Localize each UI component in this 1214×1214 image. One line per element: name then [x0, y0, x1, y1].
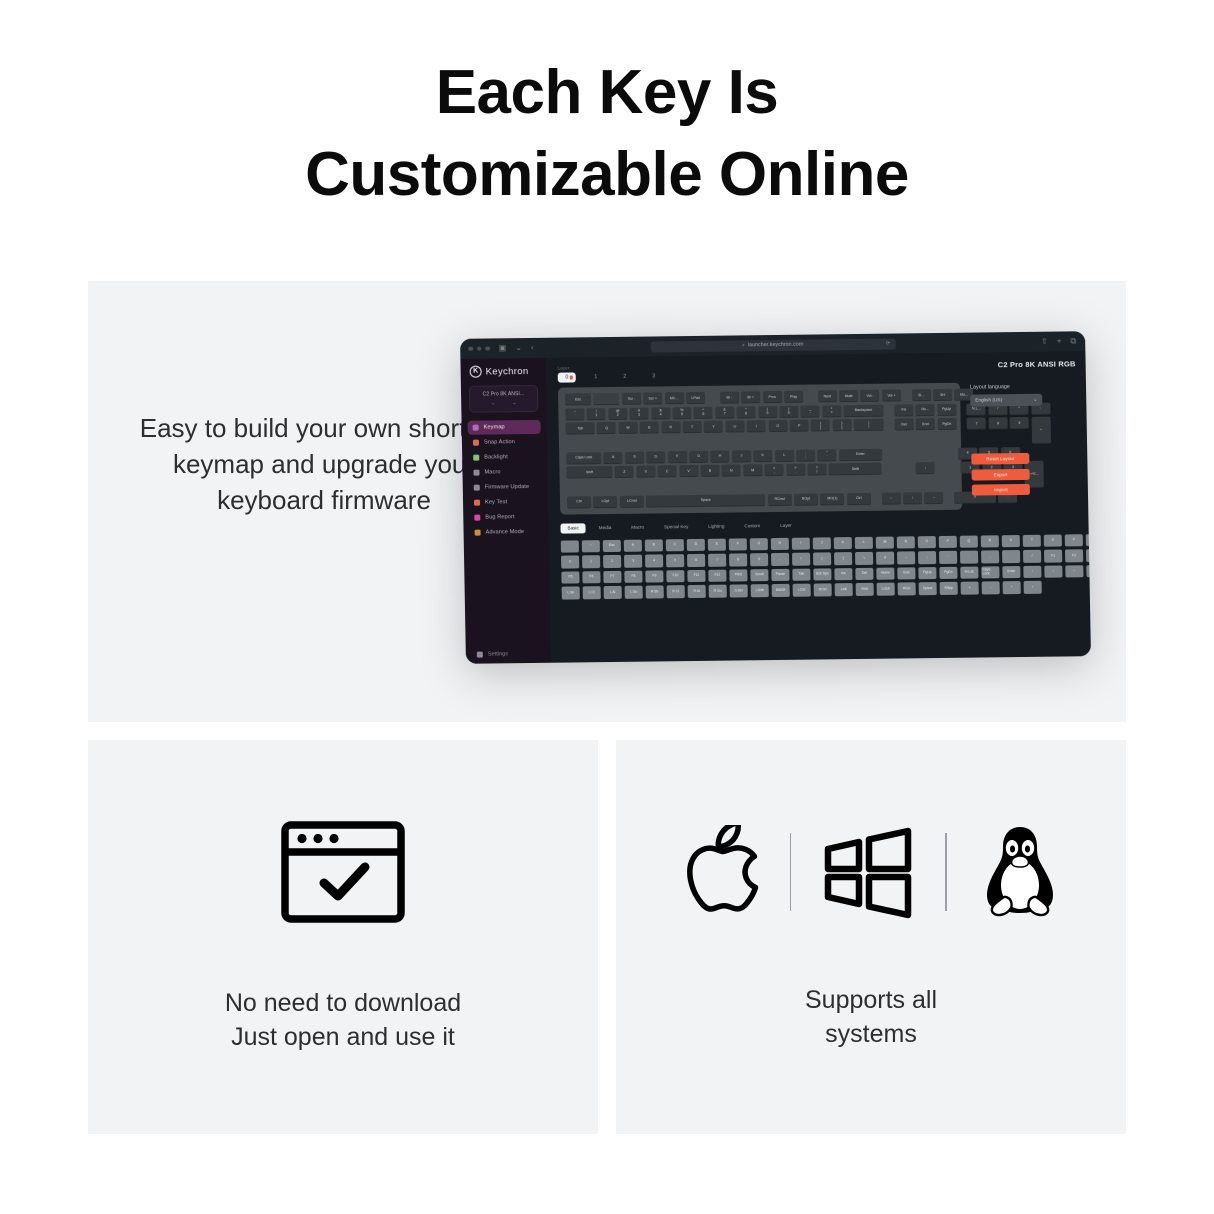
keycap[interactable]: Ins: [894, 404, 913, 416]
keycode-option[interactable]: O: [918, 536, 936, 549]
keyboard-spacer: [893, 447, 956, 460]
sidebar-item-label: Backlight: [484, 454, 508, 460]
sidebar-item-macro[interactable]: Macro: [468, 465, 541, 480]
keycode-option[interactable]: L Gu: [625, 586, 643, 599]
keycap[interactable]: :;: [796, 449, 815, 461]
keycap[interactable]: E: [640, 422, 659, 434]
keyboard-spacer: [946, 491, 952, 503]
keycode-option[interactable]: LCtrl: [793, 584, 811, 597]
keycap[interactable]: ?/: [807, 464, 826, 476]
settings-label: Settings: [488, 651, 508, 657]
keycap[interactable]: Br -: [720, 391, 739, 403]
no-download-caption: No need to download Just open and use it: [225, 986, 461, 1055]
keycode-option[interactable]: D: [687, 539, 705, 552]
keyboard-spacer: [884, 448, 890, 460]
keycap[interactable]: {[: [811, 419, 830, 431]
keycap-legend-bottom: 3: [638, 413, 640, 417]
keycap-legend-bottom: [: [820, 425, 821, 429]
keycode-option[interactable]: L Sh: [562, 587, 580, 600]
keycode-option[interactable]: R Al: [688, 585, 706, 598]
keycode-option[interactable]: R Ct: [667, 585, 685, 598]
keycode-option[interactable]: S: [1002, 535, 1020, 548]
keycode-option[interactable]: Home: [876, 567, 894, 580]
keycode-option[interactable]: G: [750, 538, 768, 551]
keycode-option[interactable]: R Sh: [646, 586, 664, 599]
keycode-option[interactable]: Tab: [792, 568, 810, 581]
keychron-logo-icon: K: [470, 366, 482, 378]
keycap[interactable]: W: [618, 422, 637, 434]
sidebar-item-label: Bug Report: [485, 514, 514, 520]
keycode-option[interactable]: =: [792, 553, 810, 566]
keycap[interactable]: B: [700, 465, 719, 477]
keycap[interactable]: Backspace: [843, 404, 883, 417]
keycap[interactable]: Scr -: [622, 393, 641, 405]
keycode-option[interactable]: P: [939, 535, 957, 548]
keyboard-spacer: [937, 462, 958, 489]
main-header: Layer 0123 C2 Pro 8K ANSI RGB: [558, 359, 1076, 382]
keycode-option[interactable]: F6: [582, 571, 600, 584]
os-icon-row: [680, 823, 1063, 921]
keycap-legend-bottom: 0: [788, 411, 790, 415]
keycode-option[interactable]: →: [1086, 565, 1091, 578]
keycap[interactable]: R: [661, 421, 680, 433]
keycap[interactable]: K: [753, 450, 772, 462]
keycap[interactable]: +=: [822, 405, 841, 417]
keycode-option[interactable]: LShft: [751, 584, 769, 597]
keycode-option[interactable]: -: [771, 553, 789, 566]
keycap[interactable]: G: [689, 450, 708, 462]
keycode-option[interactable]: ↓: [1044, 565, 1062, 578]
keycap[interactable]: >.: [786, 464, 805, 476]
keycode-option[interactable]: H: [771, 538, 789, 551]
keycap-legend-bottom: 1: [595, 413, 597, 417]
layout-options-panel: Layout language English (US) ⌄ Reset Lay…: [970, 381, 1078, 509]
keycap[interactable]: |\: [854, 419, 884, 432]
keycode-option[interactable]: C: [666, 539, 684, 552]
keycap[interactable]: )0: [779, 405, 798, 417]
keycode-option[interactable]: End: [897, 567, 915, 580]
usb-icon[interactable]: ⌁: [491, 401, 494, 407]
sidebar-item-backlight[interactable]: Backlight: [468, 450, 541, 465]
keycode-option[interactable]: LGUI: [877, 583, 895, 596]
sidebar-item-settings[interactable]: Settings: [466, 651, 551, 658]
keycap[interactable]: Mute: [839, 390, 858, 402]
keycap[interactable]: Z: [615, 466, 634, 478]
browser-window: ▣ ⌄ ‹ ⌕ launcher.keychron.com ⟳ ⇧ + ⧉: [460, 331, 1091, 664]
keycap[interactable]: Ctrl: [847, 492, 871, 504]
keycode-option[interactable]: W: [1086, 534, 1091, 547]
keycap[interactable]: RCmd: [767, 493, 791, 505]
linux-penguin-icon: [977, 823, 1063, 921]
keycode-option[interactable]: A: [624, 539, 642, 552]
keycap[interactable]: #3: [629, 407, 648, 419]
keycap[interactable]: @2: [608, 407, 627, 419]
keycap[interactable]: Shift: [566, 466, 612, 479]
keycode-option[interactable]: +: [961, 582, 979, 595]
keycode-option[interactable]: BWSft: [772, 584, 790, 597]
keycode-option[interactable]: ,: [981, 550, 999, 563]
keycode-option[interactable]: F10: [666, 570, 684, 583]
keycap[interactable]: MC...: [665, 392, 684, 404]
keycode-option[interactable]: F9: [645, 570, 663, 583]
keycap[interactable]: [593, 393, 619, 406]
keycode-option[interactable]: U: [1044, 534, 1062, 547]
keycap[interactable]: L: [775, 449, 794, 461]
keycode-option[interactable]: LAlt: [835, 583, 853, 596]
keycode-option[interactable]: N.Lck: [960, 566, 978, 579]
keycap[interactable]: (9: [758, 406, 777, 418]
chevron-down-icon[interactable]: ⌄: [515, 344, 522, 352]
keycap[interactable]: Prvs: [763, 391, 782, 403]
keycode-category-tabs: BasicMediaMacroSpecial KeyLightingCustom…: [560, 517, 1078, 533]
keycode-option[interactable]: [561, 540, 579, 553]
keycode-option[interactable]: ↑: [582, 540, 600, 553]
keycap[interactable]: Scr +: [643, 392, 662, 404]
keycap-legend-bottom: -: [810, 411, 811, 415]
minimize-icon[interactable]: [477, 346, 482, 351]
keycode-option[interactable]: M: [876, 536, 894, 549]
layout-language-select[interactable]: English (US) ⌄: [970, 394, 1042, 407]
keycap[interactable]: Vol +: [882, 389, 901, 401]
keycap[interactable]: SH: [933, 389, 952, 401]
keycap[interactable]: ROpt: [794, 493, 818, 505]
keycap[interactable]: O: [768, 420, 787, 432]
browser-toolbar-right: ⇧ + ⧉: [1041, 336, 1076, 346]
sidebar-item-key-test[interactable]: Key Test: [469, 495, 542, 510]
keycode-option[interactable]: /: [1023, 550, 1041, 563]
keycap-legend-bottom: ]: [841, 425, 842, 429]
keytest-icon: [474, 500, 480, 506]
keyboard-spacer: [707, 392, 717, 404]
card-no-download: No need to download Just open and use it: [88, 740, 598, 1134]
layout-language-value: English (US): [975, 398, 1002, 403]
bulb-icon: [473, 455, 479, 461]
keyboard-row: ShiftZXCVBNM<,>.?/Shift↑123↵E...: [566, 462, 954, 494]
keycap[interactable]: →: [924, 491, 943, 503]
sidebar-item-label: Keymap: [484, 424, 505, 430]
keycode-option[interactable]: Ins: [834, 568, 852, 581]
keycap[interactable]: F: [668, 451, 687, 463]
keycode-option[interactable]: \: [855, 552, 873, 565]
keycap[interactable]: Play: [784, 391, 803, 403]
reload-icon[interactable]: ⟳: [886, 341, 890, 347]
keycode-option[interactable]: 3: [624, 555, 642, 568]
close-icon[interactable]: [468, 346, 473, 351]
keycap[interactable]: H: [710, 450, 729, 462]
keycode-option[interactable]: R Gu: [709, 585, 727, 598]
sidebar-item-snap-action[interactable]: Snap Action: [468, 435, 541, 450]
keycode-option[interactable]: Esc: [603, 540, 621, 553]
firmware-icon: [474, 485, 480, 491]
keycap[interactable]: Space: [646, 494, 765, 508]
keycap[interactable]: Ctrl: [567, 496, 591, 508]
keycap-legend-bottom: 4: [659, 413, 661, 417]
bottom-card-row: No need to download Just open and use it: [88, 740, 1126, 1134]
keycap[interactable]: ~`: [565, 408, 584, 420]
keycode-option[interactable]: S.Sel: [730, 585, 748, 598]
import-button[interactable]: Import: [972, 484, 1030, 496]
systems-caption: Supports all systems: [805, 983, 937, 1052]
bug-icon: [474, 515, 480, 521]
back-icon[interactable]: ‹: [531, 344, 534, 352]
keycode-option[interactable]: PgUp: [918, 567, 936, 580]
keycode-option[interactable]: B: [645, 539, 663, 552]
feature-card-grid: Easy to build your own shortcut, keymap …: [88, 281, 1126, 1134]
layer-tab-list: 0123: [558, 371, 663, 382]
sidebar-item-firmware-update[interactable]: Firmware Update: [469, 480, 542, 495]
keycap[interactable]: !1: [587, 408, 606, 420]
keycap[interactable]: ↑: [916, 462, 935, 474]
keycode-option[interactable]: F3: [1086, 549, 1091, 562]
export-button[interactable]: Export: [972, 468, 1030, 480]
keycap[interactable]: PgUp: [937, 403, 956, 415]
keycap[interactable]: Next: [818, 390, 837, 402]
keycap[interactable]: PgDn: [937, 418, 956, 430]
keycap[interactable]: V: [679, 465, 698, 477]
keycode-option[interactable]: Pause: [771, 569, 789, 582]
keycap[interactable]: I: [747, 420, 766, 432]
keycode-option[interactable]: N: [897, 536, 915, 549]
keycap[interactable]: MO(1): [820, 493, 844, 505]
keycap[interactable]: }]: [832, 419, 851, 431]
keycode-option[interactable]: I: [792, 537, 810, 550]
headline-line-1: Each Key Is: [436, 58, 779, 127]
sidebar-item-label: Key Test: [485, 499, 507, 505]
gear-icon: [477, 652, 483, 658]
keycode-option[interactable]: RCtrl: [814, 584, 832, 597]
keycap[interactable]: Q: [597, 422, 616, 434]
keycode-option[interactable]: F7: [603, 571, 621, 584]
tab-macro[interactable]: Macro: [624, 522, 651, 532]
keycode-option[interactable]: 2: [603, 555, 621, 568]
keycode-option[interactable]: `: [960, 551, 978, 564]
keycode-option[interactable]: 6: [687, 554, 705, 567]
keycap[interactable]: X: [636, 466, 655, 478]
keycode-option[interactable]: PgDn: [939, 566, 957, 579]
icon-divider-2: [945, 833, 947, 911]
keycode-option[interactable]: E: [708, 538, 726, 551]
advance-icon: [475, 530, 481, 536]
keycode-option[interactable]: ~: [897, 552, 915, 565]
macro-icon: [473, 470, 479, 476]
sidebar-item-keymap[interactable]: Keymap: [468, 420, 541, 435]
layer-label: Layer: [558, 364, 663, 370]
keycap[interactable]: U: [725, 421, 744, 433]
keycode-option[interactable]: ←: [1065, 565, 1083, 578]
address-bar[interactable]: ⌕ launcher.keychron.com ⟳: [650, 338, 895, 352]
keycap[interactable]: A: [604, 451, 623, 463]
keycode-option[interactable]: 8: [729, 554, 747, 567]
keycap[interactable]: *8: [736, 406, 755, 418]
sidebar-icon[interactable]: ▣: [499, 344, 507, 352]
keycode-option[interactable]: RGU: [898, 582, 916, 595]
connected-device-card[interactable]: C2 Pro 8K ANSI... ⌁ ⌁: [469, 385, 538, 413]
keyboard-spacer: [958, 403, 964, 415]
layer-tab-2[interactable]: 2: [616, 372, 634, 382]
keycap[interactable]: Shift: [829, 463, 882, 476]
keycap[interactable]: T: [683, 421, 702, 433]
layout-language-label: Layout language: [970, 383, 1076, 390]
keycode-option[interactable]: Del: [855, 568, 873, 581]
keycode-option[interactable]: -: [982, 581, 1000, 594]
plus-icon[interactable]: +: [1057, 336, 1062, 346]
keycap[interactable]: ↓: [903, 492, 922, 504]
keyboard-row: TabQWERTYUIOP{[}]|\DelEndPgDn789+: [566, 418, 954, 450]
keycap[interactable]: $4: [651, 407, 670, 419]
no-download-caption-line-1: No need to download: [225, 986, 461, 1021]
keycap[interactable]: LCmd: [620, 495, 644, 507]
keycap[interactable]: S: [625, 451, 644, 463]
keycode-option[interactable]: ↑: [1023, 565, 1041, 578]
keymap-icon: [473, 425, 479, 431]
keycap[interactable]: M: [743, 464, 762, 476]
app-main: Layer 0123 C2 Pro 8K ANSI RGB EscScr -Sc…: [545, 351, 1091, 663]
keycap[interactable]: <,: [765, 464, 784, 476]
keycap-legend-bottom: 6: [702, 412, 704, 416]
keycode-option[interactable]: ': [939, 551, 957, 564]
no-download-icon-row: [280, 820, 406, 924]
keycode-option[interactable]: RAlt: [856, 583, 874, 596]
keyboard-spacer: [892, 462, 913, 489]
keycap-legend-bottom: ;: [805, 455, 806, 459]
keycap[interactable]: Del: [894, 418, 913, 430]
keycap[interactable]: Enter: [839, 448, 882, 461]
bluetooth-icon[interactable]: ⌁: [513, 401, 516, 407]
keycap[interactable]: Tab: [566, 422, 595, 435]
keycode-option[interactable]: F2: [1065, 549, 1083, 562]
traffic-lights: [468, 346, 490, 351]
keycap[interactable]: LOpt: [593, 495, 617, 507]
keycap[interactable]: %5: [672, 407, 691, 419]
keycap[interactable]: Vol -: [861, 390, 880, 402]
keycode-option[interactable]: L Al: [604, 586, 622, 599]
keyboard-spacer: [903, 389, 909, 401]
keycode-option[interactable]: V: [1065, 534, 1083, 547]
keycap[interactable]: J: [732, 450, 751, 462]
keycode-option[interactable]: /: [1024, 581, 1042, 594]
tab-media[interactable]: Media: [592, 523, 619, 533]
sidebar-item-label: Snap Action: [484, 439, 515, 445]
keycode-option[interactable]: Scroll: [750, 569, 768, 582]
tabs-icon[interactable]: ⧉: [1070, 336, 1076, 346]
keycode-option[interactable]: F: [729, 538, 747, 551]
keycap[interactable]: N: [722, 465, 741, 477]
keycode-option[interactable]: L Ct: [583, 586, 601, 599]
keycode-option[interactable]: F11: [687, 570, 705, 583]
keycap[interactable]: Caps Lock: [566, 452, 601, 465]
keycode-option[interactable]: 0: [561, 556, 579, 569]
sidebar-item-bug-report[interactable]: Bug Report: [469, 510, 542, 525]
keycode-option[interactable]: Q: [960, 535, 978, 548]
keycode-option[interactable]: 9: [750, 553, 768, 566]
keycode-option[interactable]: 4: [645, 555, 663, 568]
maximize-icon[interactable]: [485, 346, 490, 351]
layer-tab-3[interactable]: 3: [645, 371, 663, 381]
keycode-option[interactable]: Bck Spc: [813, 568, 831, 581]
keycap-legend-bottom: 9: [766, 411, 768, 415]
share-icon[interactable]: ⇧: [1041, 337, 1048, 347]
keycap[interactable]: Ho...: [916, 404, 935, 416]
layer-tab-0[interactable]: 0: [558, 372, 576, 382]
layer-tab-1[interactable]: 1: [587, 372, 605, 382]
sidebar-item-label: Macro: [484, 469, 500, 475]
keycode-option[interactable]: F8: [624, 570, 642, 583]
layer-selector: Layer 0123: [558, 364, 663, 382]
keycode-option[interactable]: 5: [666, 554, 684, 567]
tab-basic[interactable]: Basic: [560, 523, 585, 533]
keycode-option[interactable]: L: [855, 537, 873, 550]
keyboard-spacer: [873, 492, 879, 504]
keycode-option[interactable]: *: [1003, 581, 1021, 594]
keycode-option[interactable]: [: [813, 553, 831, 566]
headline-line-2: Customizable Online: [0, 134, 1214, 216]
keycap-legend-bottom: `: [574, 414, 575, 418]
keyboard-spacer: [886, 404, 892, 416]
keycap-legend-bottom: =: [831, 410, 833, 414]
keycap[interactable]: &7: [715, 406, 734, 418]
keycode-option[interactable]: F12: [708, 569, 726, 582]
keycode-option[interactable]: J: [813, 537, 831, 550]
keycap[interactable]: Sl...: [912, 389, 931, 401]
keycode-option[interactable]: #: [876, 552, 894, 565]
keycode-option[interactable]: Print: [729, 569, 747, 582]
tab-layer[interactable]: Layer: [773, 520, 799, 530]
keycode-option[interactable]: Enter: [1002, 566, 1020, 579]
keycode-option[interactable]: RApp: [940, 582, 958, 595]
keycap-legend-bottom: \: [868, 425, 869, 429]
sidebar-item-advance-mode[interactable]: Advance Mode: [469, 525, 542, 540]
tab-special-key[interactable]: Special Key: [657, 522, 695, 532]
keycode-option[interactable]: F1: [1044, 550, 1062, 563]
layout-action-buttons: Reset LayoutExportImport: [971, 453, 1030, 496]
keycap[interactable]: Esc: [565, 393, 591, 406]
keycode-option[interactable]: Space: [919, 582, 937, 595]
brand: K Keychron: [461, 365, 546, 386]
keycap[interactable]: "': [817, 449, 836, 461]
keycap[interactable]: Y: [704, 421, 723, 433]
keycap[interactable]: End: [916, 418, 935, 430]
keycode-option[interactable]: ]: [834, 552, 852, 565]
keycap[interactable]: C: [658, 465, 677, 477]
keycap[interactable]: P: [789, 420, 808, 432]
reset-layout-button[interactable]: Reset Layout: [971, 453, 1029, 465]
keycap-legend-bottom: 8: [745, 412, 747, 416]
keycap[interactable]: LPad: [686, 392, 705, 404]
keycap[interactable]: ^6: [694, 406, 713, 418]
keycode-option[interactable]: 1: [582, 555, 600, 568]
search-icon: ⌕: [742, 342, 745, 348]
keycap[interactable]: Br +: [741, 391, 760, 403]
keycap-legend-bottom: 7: [724, 412, 726, 416]
keycap-legend-bottom: 2: [617, 413, 619, 417]
keycode-option[interactable]: T: [1023, 534, 1041, 547]
keycode-option[interactable]: 7: [708, 554, 726, 567]
tab-lighting[interactable]: Lighting: [701, 521, 731, 531]
tab-custom[interactable]: Custom: [737, 521, 767, 531]
app-sidebar: K Keychron C2 Pro 8K ANSI... ⌁ ⌁ KeymapS…: [460, 358, 551, 664]
keycode-row: L ShL CtL AlL GuR ShR CtR AlR GuS.SelLSh…: [562, 580, 1080, 599]
keycode-option[interactable]: Caps Lock: [981, 566, 999, 579]
keycode-option[interactable]: K: [834, 537, 852, 550]
keycode-option[interactable]: ;: [918, 551, 936, 564]
keycode-option[interactable]: F5: [561, 571, 579, 584]
keycode-option[interactable]: .: [1002, 550, 1020, 563]
keycap[interactable]: D: [646, 451, 665, 463]
keycap[interactable]: ←: [881, 492, 900, 504]
keycode-option[interactable]: R: [981, 535, 999, 548]
keycap[interactable]: _-: [801, 405, 820, 417]
browser-checkmark-icon: [280, 820, 406, 924]
